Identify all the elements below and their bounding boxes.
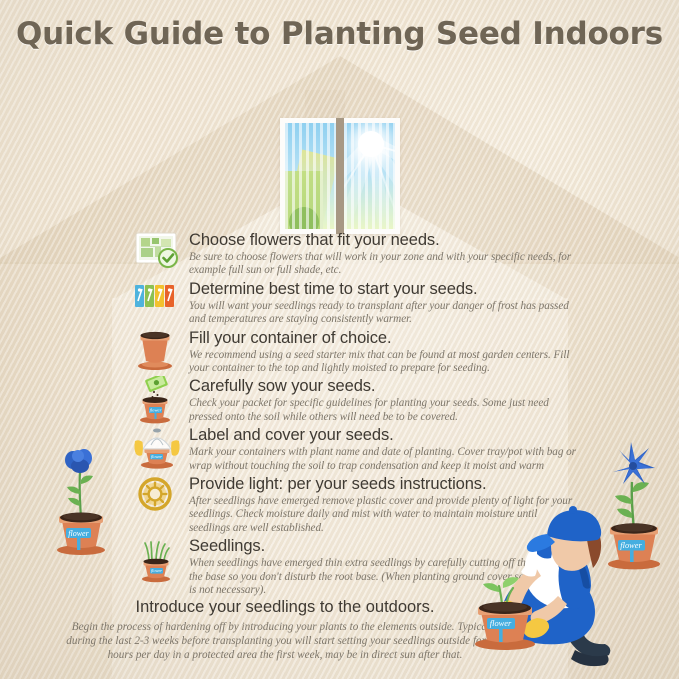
step-body: You will want your seedlings ready to tr… xyxy=(189,300,581,327)
gloves-covering-pot-icon: flower xyxy=(133,425,185,473)
infographic-poster: Quick Guide to Planting Seed Indoors xyxy=(0,0,679,679)
window-blinds-right xyxy=(344,123,395,229)
page-title: Quick Guide to Planting Seed Indoors xyxy=(0,16,679,52)
list-item: Fill your container of choice. We recomm… xyxy=(133,328,581,376)
sprouting-seedlings-pot-icon: flower xyxy=(133,536,185,584)
step-title: Carefully sow your seeds. xyxy=(189,376,581,396)
list-item: Choose flowers that fit your needs. Be s… xyxy=(133,230,581,278)
step-title: Provide light: per your seeds instructio… xyxy=(189,474,581,494)
four-season-calendar-icon xyxy=(133,279,185,327)
window-pane-right xyxy=(344,123,395,229)
outro-body: Begin the process of hardening off by in… xyxy=(60,620,510,663)
svg-text:flower: flower xyxy=(68,529,89,538)
step-body: Be sure to choose flowers that will work… xyxy=(189,251,581,278)
outro-block: Introduce your seedlings to the outdoors… xyxy=(60,598,510,663)
kneeling-gardener-illustration: flower xyxy=(455,500,679,679)
sunny-window-illustration xyxy=(280,118,400,234)
window-mullion xyxy=(336,118,344,234)
step-title: Label and cover your seeds. xyxy=(189,425,581,445)
window-blinds-left xyxy=(285,123,336,229)
list-item: flower Carefully sow your seeds. Check y… xyxy=(133,376,581,424)
svg-text:flower: flower xyxy=(151,568,163,573)
seed-catalog-check-icon xyxy=(133,230,185,278)
filled-pot-icon xyxy=(133,328,185,376)
step-title: Choose flowers that fit your needs. xyxy=(189,230,581,250)
svg-text:flower: flower xyxy=(151,454,163,459)
step-title: Fill your container of choice. xyxy=(189,328,581,348)
svg-text:flower: flower xyxy=(150,408,162,413)
step-body: Mark your containers with plant name and… xyxy=(189,446,581,473)
svg-text:flower: flower xyxy=(490,619,512,628)
step-body: Check your packet for specific guideline… xyxy=(189,397,581,424)
step-title: Determine best time to start your seeds. xyxy=(189,279,581,299)
step-body: We recommend using a seed starter mix th… xyxy=(189,349,581,376)
sun-light-icon xyxy=(133,474,185,522)
seed-packet-sowing-icon: flower xyxy=(133,376,185,424)
potted-blue-flower-left: flower xyxy=(44,418,118,564)
window-pane-left xyxy=(285,123,336,229)
list-item: flower Label and cover your seeds. Mark … xyxy=(133,425,581,473)
outro-title: Introduce your seedlings to the outdoors… xyxy=(60,598,510,617)
list-item: Determine best time to start your seeds.… xyxy=(133,279,581,327)
